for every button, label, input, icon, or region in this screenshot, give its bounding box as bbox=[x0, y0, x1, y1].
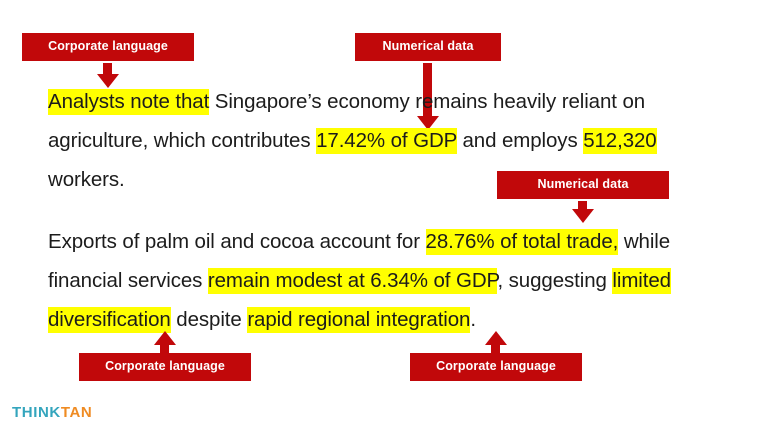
text-plain-1b: and employs bbox=[457, 129, 583, 152]
document-body: Analysts note that Singapore’s economy r… bbox=[48, 82, 738, 339]
arrow-up-icon-bottom-right bbox=[485, 331, 507, 345]
highlight-trade-percent: 28.76% of total trade, bbox=[426, 229, 619, 255]
paragraph-1: Analysts note that Singapore’s economy r… bbox=[48, 82, 738, 199]
callout-label: Corporate language bbox=[105, 359, 225, 373]
callout-corporate-language-bottom-right[interactable]: Corporate language bbox=[410, 353, 582, 381]
highlight-financial-services: remain modest at 6.34% of GDP bbox=[208, 268, 498, 294]
highlight-worker-count: 512,320 bbox=[583, 128, 656, 154]
text-plain-2e: . bbox=[470, 308, 476, 331]
highlight-regional-integration: rapid regional integration bbox=[247, 307, 470, 333]
logo-text-tan: TAN bbox=[61, 404, 93, 421]
callout-label: Numerical data bbox=[382, 39, 473, 53]
logo-text-think: THINK bbox=[12, 404, 61, 421]
text-plain-1c: workers. bbox=[48, 168, 125, 191]
highlight-gdp-percent: 17.42% of GDP bbox=[316, 128, 457, 154]
callout-numerical-data-top-center[interactable]: Numerical data bbox=[355, 33, 501, 61]
callout-label: Corporate language bbox=[48, 39, 168, 53]
arrow-up-icon-bottom-left bbox=[154, 331, 176, 345]
text-plain-2c: , suggesting bbox=[497, 269, 612, 292]
thinktan-logo: THINKTAN bbox=[12, 404, 92, 421]
text-plain-2a: Exports of palm oil and cocoa account fo… bbox=[48, 230, 426, 253]
callout-corporate-language-bottom-left[interactable]: Corporate language bbox=[79, 353, 251, 381]
highlight-corporate-language-1: Analysts note that bbox=[48, 89, 209, 115]
paragraph-2: Exports of palm oil and cocoa account fo… bbox=[48, 222, 738, 339]
callout-label: Corporate language bbox=[436, 359, 556, 373]
callout-corporate-language-top-left[interactable]: Corporate language bbox=[22, 33, 194, 61]
text-plain-2d: despite bbox=[171, 308, 248, 331]
